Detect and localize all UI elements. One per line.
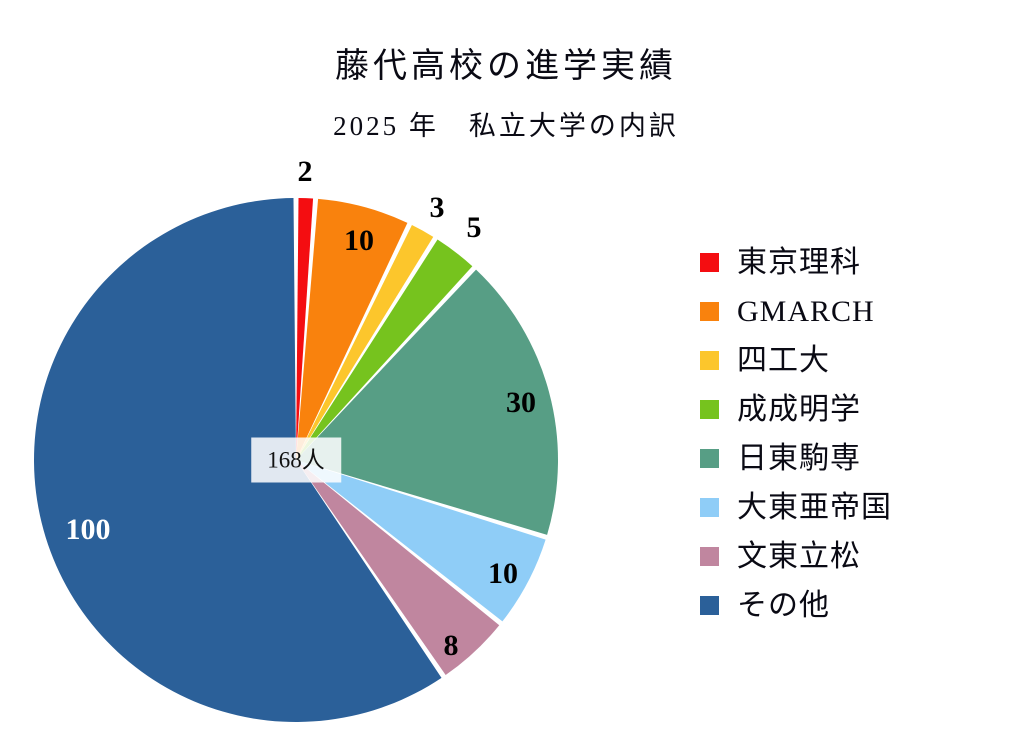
legend-swatch-icon [700, 547, 719, 566]
legend-item[interactable]: 日東駒専 [700, 434, 1000, 483]
legend-item[interactable]: 東京理科 [700, 238, 1000, 287]
legend-swatch-icon [700, 596, 719, 615]
legend-item[interactable]: 四工大 [700, 336, 1000, 385]
legend-label: 日東駒専 [737, 444, 861, 474]
legend-swatch-icon [700, 351, 719, 370]
legend-label: 文東立松 [737, 542, 861, 572]
legend-label: 東京理科 [737, 248, 861, 278]
pie-svg [0, 0, 660, 750]
legend-item[interactable]: 文東立松 [700, 532, 1000, 581]
legend-item[interactable]: 成成明学 [700, 385, 1000, 434]
legend-item[interactable]: 大東亜帝国 [700, 483, 1000, 532]
legend-swatch-icon [700, 253, 719, 272]
legend-swatch-icon [700, 449, 719, 468]
legend-label: 大東亜帝国 [737, 493, 892, 523]
legend-item[interactable]: GMARCH [700, 287, 1000, 336]
legend-swatch-icon [700, 400, 719, 419]
pie-chart: 2103530108100 168人 [0, 0, 660, 750]
legend-label: GMARCH [737, 297, 875, 327]
legend-swatch-icon [700, 498, 719, 517]
legend-item[interactable]: その他 [700, 581, 1000, 630]
pie-chart-page: 藤代高校の進学実績 2025 年 私立大学の内訳 2103530108100 1… [0, 0, 1012, 750]
legend-label: 成成明学 [737, 395, 861, 425]
legend: 東京理科GMARCH四工大成成明学日東駒専大東亜帝国文東立松その他 [700, 238, 1000, 630]
legend-label: その他 [737, 591, 830, 621]
legend-label: 四工大 [737, 346, 830, 376]
legend-swatch-icon [700, 302, 719, 321]
center-total-badge: 168人 [251, 438, 341, 483]
